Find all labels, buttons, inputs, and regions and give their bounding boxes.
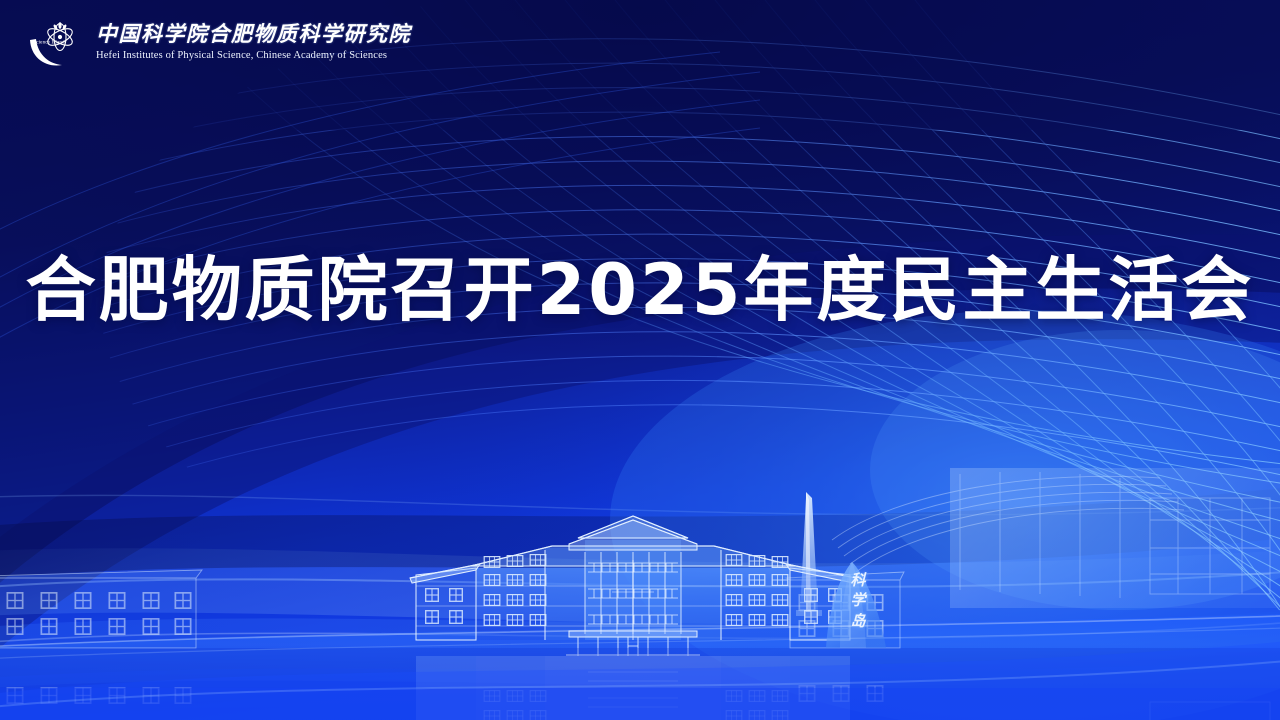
science-island-scene [0,0,1280,720]
slide-canvas: Science Island 中国科学院合肥物质科学研究院 Hefei Inst… [0,0,1280,720]
stone-char-2: 学 [845,590,871,610]
science-island-atom-crescent-icon: Science Island [28,18,86,68]
stone-char-1: 科 [845,570,871,590]
stone-inscription: 科 学 岛 [845,570,871,631]
page-title: 合肥物质院召开2025年度民主生活会 [0,255,1280,325]
stone-char-3: 岛 [845,611,871,631]
logo-badge-text: Science Island [33,40,65,46]
institute-name-cn: 中国科学院合肥物质科学研究院 [96,24,411,45]
main-building [410,516,856,656]
institute-logo: Science Island 中国科学院合肥物质科学研究院 Hefei Inst… [28,18,411,68]
institute-name-en: Hefei Institutes of Physical Science, Ch… [96,51,411,62]
